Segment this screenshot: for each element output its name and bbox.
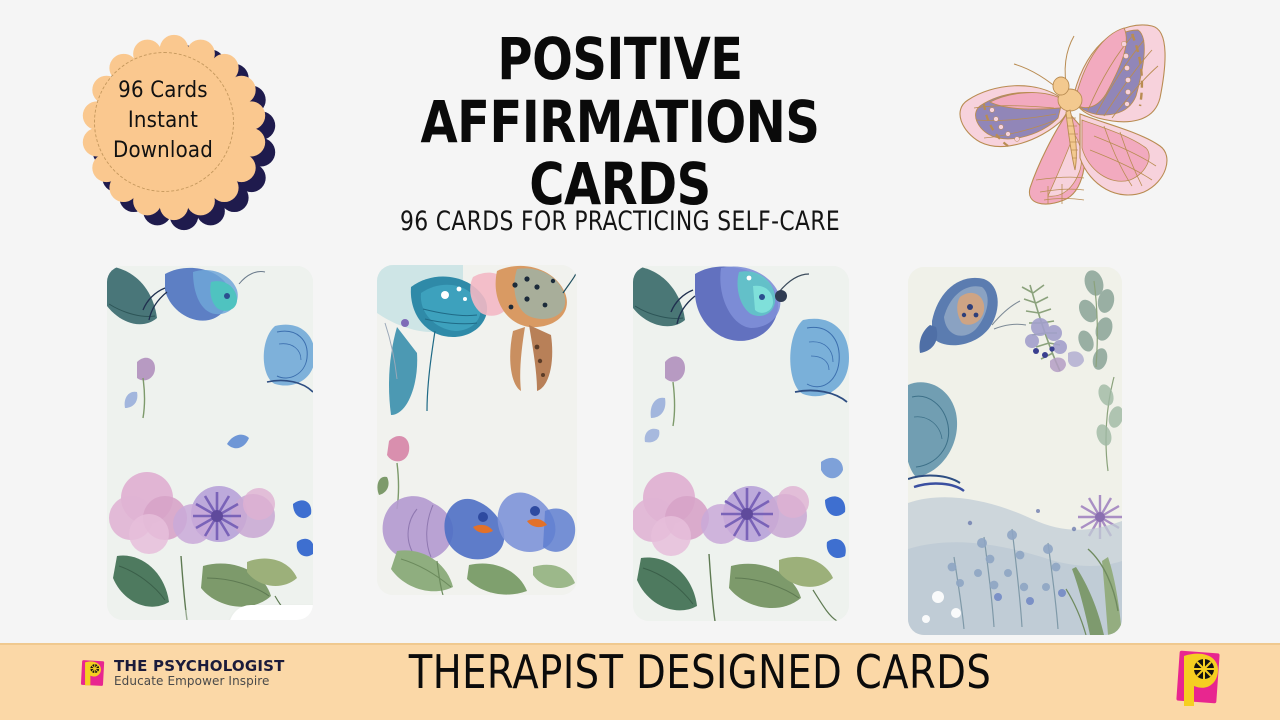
brand-tagline: Educate Empower Inspire: [114, 675, 285, 688]
card-1-quote: I am capable of achieving my goals.: [229, 605, 313, 620]
brand-name: THE PSYCHOLOGIST: [114, 659, 285, 675]
card-2-artwork: [377, 265, 577, 595]
card-3-artwork: [633, 266, 849, 621]
psychologist-logo-icon: [78, 658, 108, 688]
brand-text: THE PSYCHOLOGIST Educate Empower Inspire: [114, 659, 285, 687]
card-1-artwork: [107, 266, 313, 620]
affirmation-card-3[interactable]: I am deserving of love and respect.: [633, 266, 849, 621]
brand-lockup-left: THE PSYCHOLOGIST Educate Empower Inspire: [78, 658, 285, 688]
affirmation-card-2[interactable]: I am worthy of all the good things that …: [377, 265, 577, 595]
psychologist-logo-mark-right: [1168, 646, 1228, 712]
card-4-artwork: [908, 267, 1122, 635]
poster-canvas: 96 Cards Instant Download POSITIVE AFFIR…: [0, 0, 1280, 720]
card-gallery: I am capable of achieving my goals.: [0, 0, 1280, 650]
affirmation-card-1[interactable]: I am capable of achieving my goals.: [107, 266, 313, 620]
banner-headline: THERAPIST DESIGNED CARDS: [356, 645, 1044, 699]
affirmation-card-4[interactable]: I am surrounded by love and positive ene…: [908, 267, 1122, 635]
